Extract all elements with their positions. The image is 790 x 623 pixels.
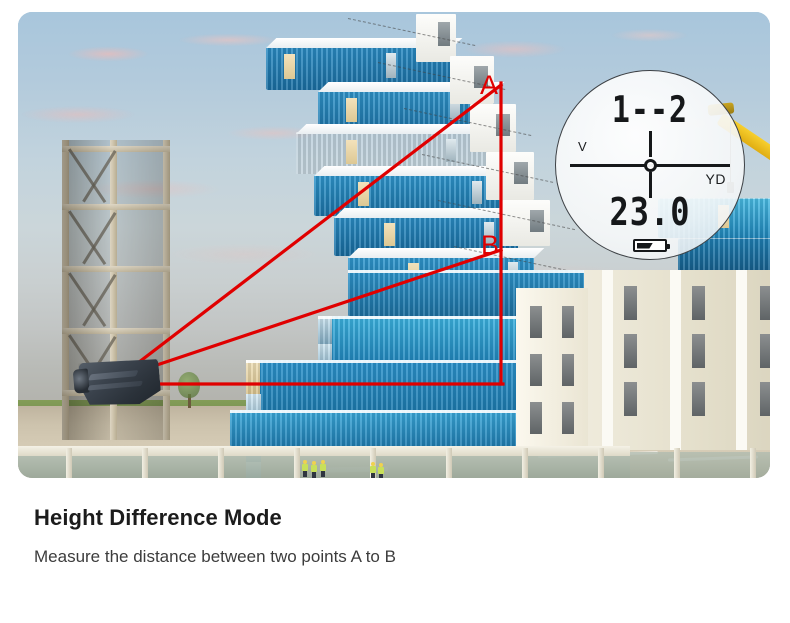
white-module (416, 14, 456, 62)
distance-readout: 23.0 (556, 189, 744, 235)
hero-image: A B 1--2 V YD 23.0 (18, 12, 770, 478)
page-title: Height Difference Mode (34, 505, 734, 531)
page-subtitle: Measure the distance between two points … (34, 547, 734, 567)
crosshair-center-icon (644, 159, 657, 172)
canopy-roof (18, 446, 630, 456)
rangefinder-reticle-view: 1--2 V YD 23.0 (555, 70, 745, 260)
laser-rangefinder-device (72, 356, 162, 409)
point-b-label: B (481, 232, 500, 259)
vertical-indicator-label: V (578, 139, 587, 154)
tree (178, 372, 200, 398)
battery-icon (633, 239, 667, 252)
pillar (674, 448, 680, 478)
building-facade (584, 270, 770, 450)
worker-figure (302, 460, 308, 476)
glass-ground-floor (630, 452, 770, 478)
height-difference-mode-card: A B 1--2 V YD 23.0 (0, 0, 790, 623)
unit-label: YD (706, 171, 726, 187)
worker-figure (378, 463, 384, 478)
mode-readout: 1--2 (556, 89, 744, 132)
crosshair-vertical-top (649, 131, 652, 157)
caption-block: Height Difference Mode Measure the dista… (34, 505, 734, 567)
building-facade (516, 288, 588, 450)
pillar (446, 448, 452, 478)
pillar (750, 448, 756, 478)
worker-figure (370, 462, 376, 478)
point-a-label: A (480, 72, 499, 99)
worker-figure (311, 461, 317, 477)
pillar (142, 448, 148, 478)
pillar (66, 448, 72, 478)
pillar (218, 448, 224, 478)
pillar (522, 448, 528, 478)
worker-figure (320, 460, 326, 476)
pillar (598, 448, 604, 478)
pillar (294, 448, 300, 478)
